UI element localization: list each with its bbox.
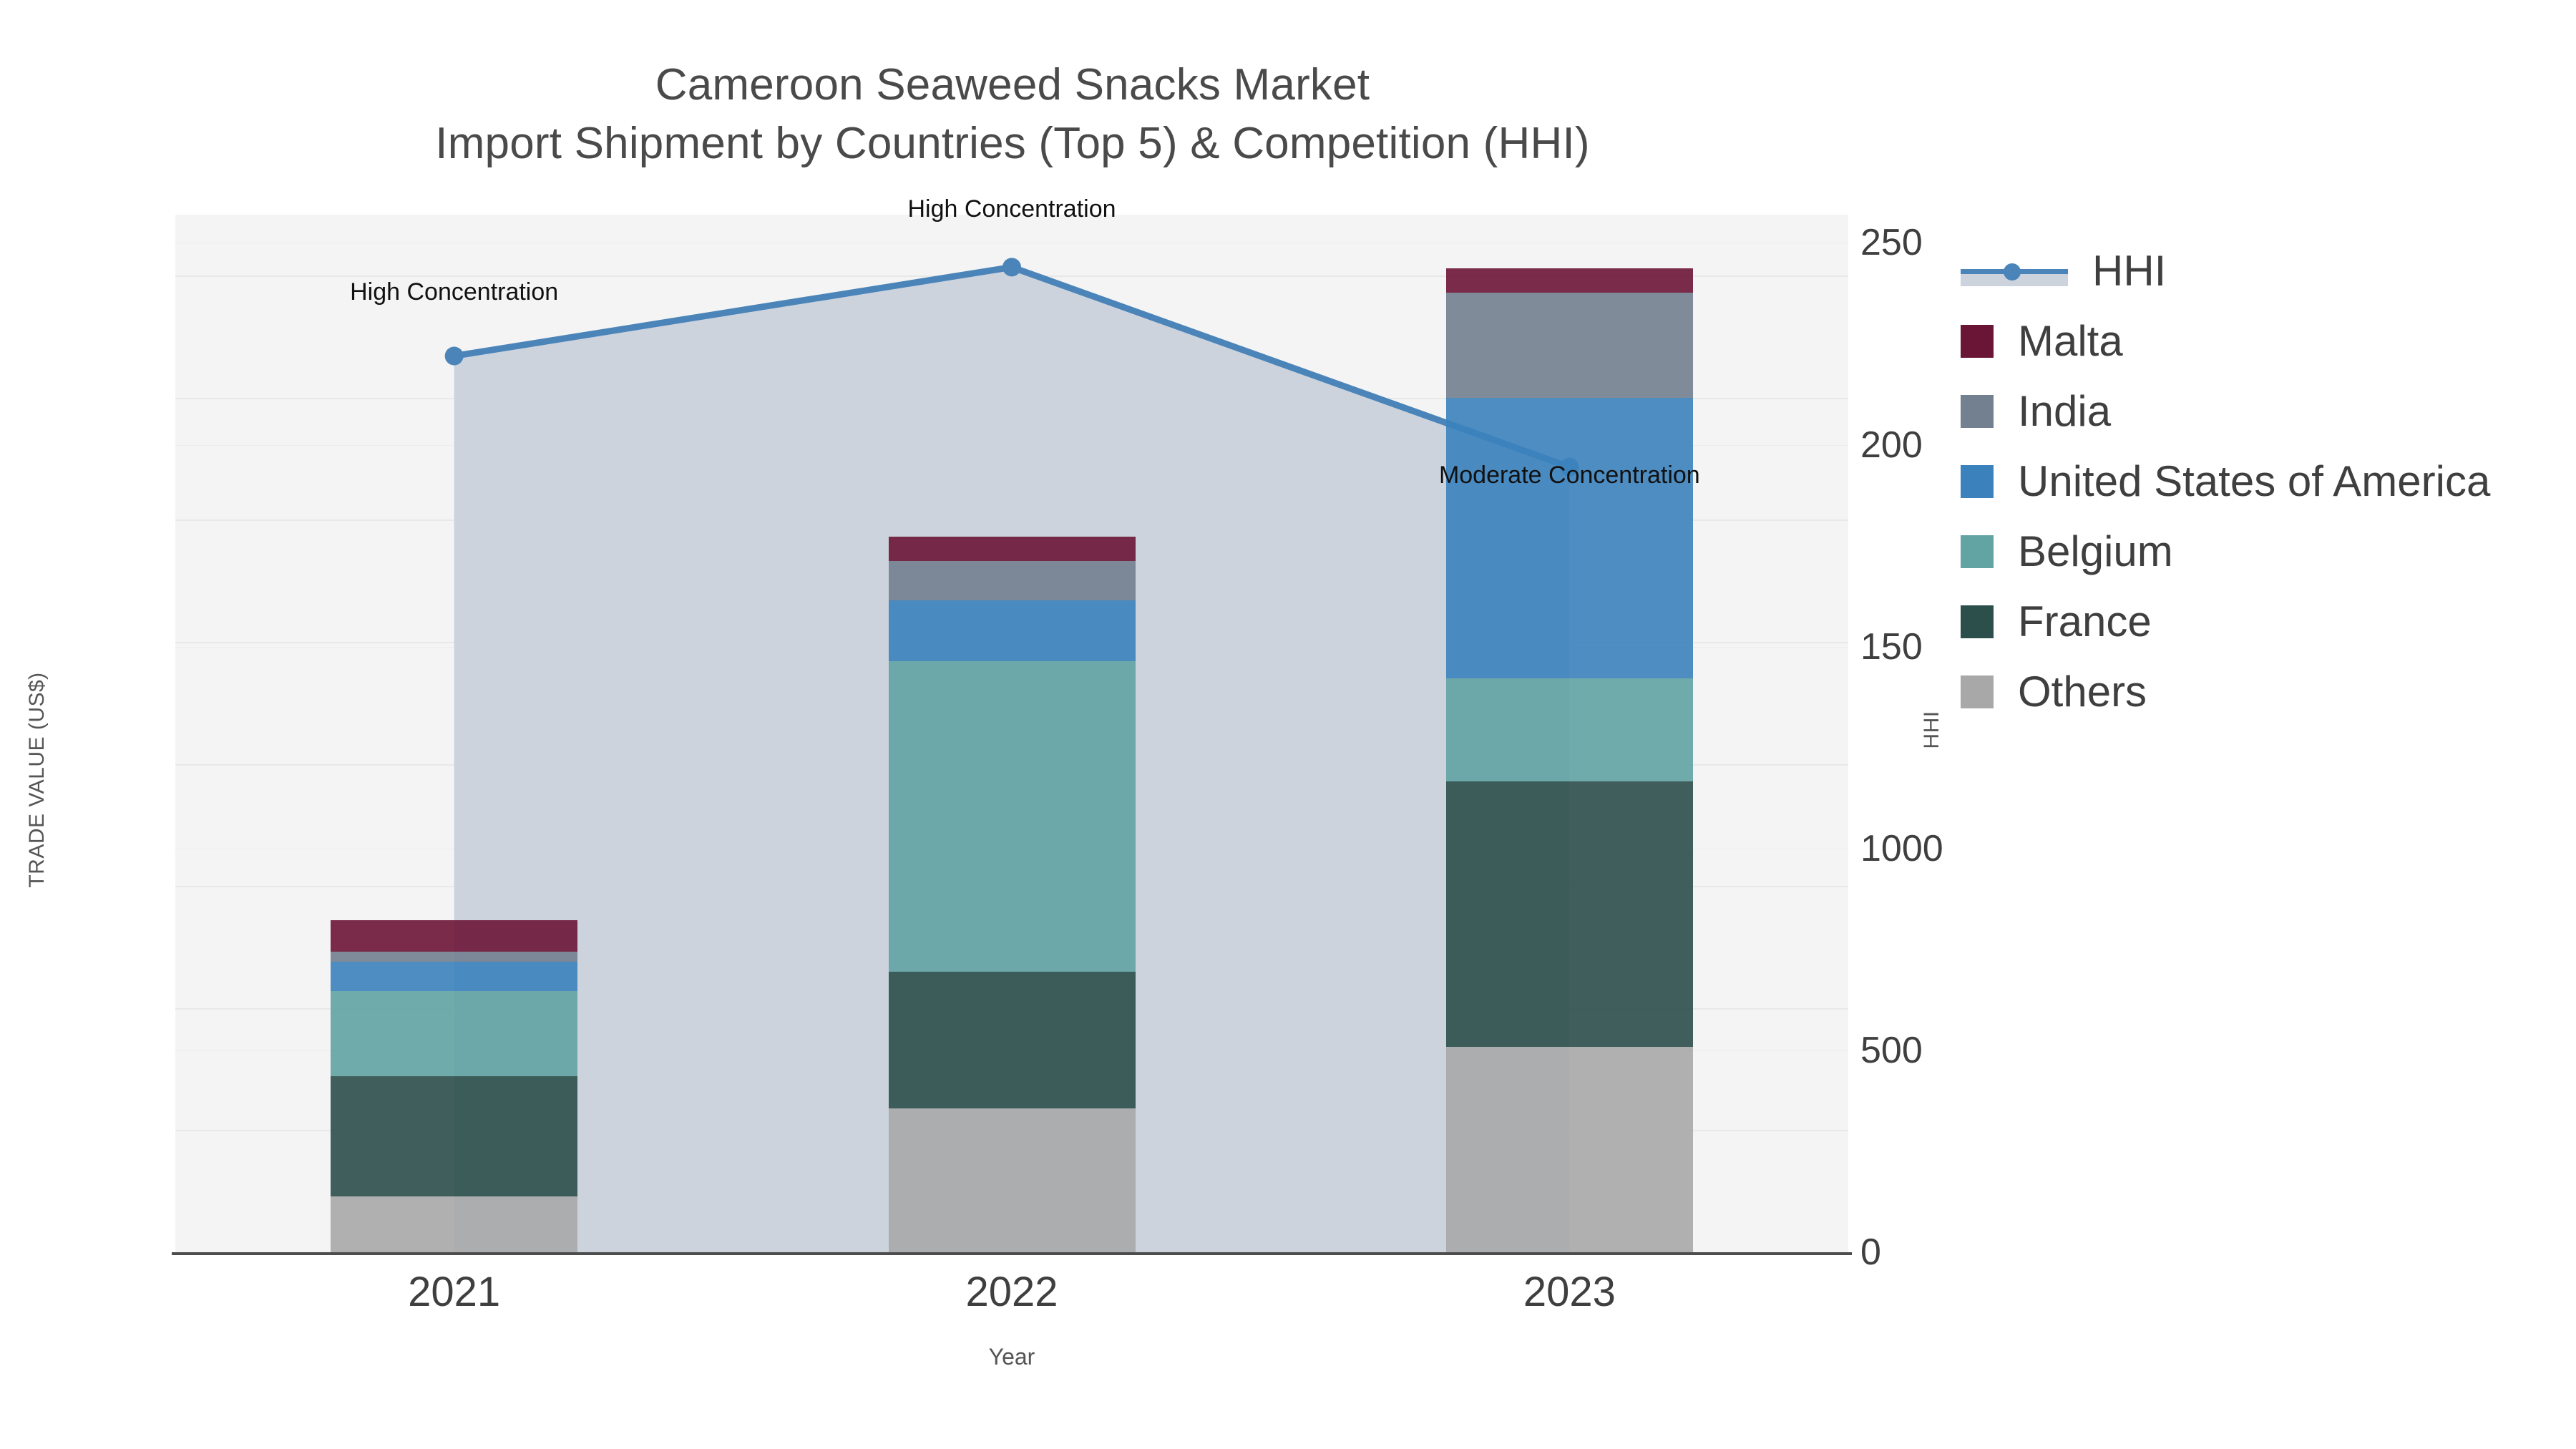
legend-item-label: India [2018, 390, 2111, 433]
legend-color-swatch [1961, 675, 1994, 708]
legend-item-malta[interactable]: Malta [1961, 306, 2490, 376]
legend-item-label: Others [2018, 670, 2147, 713]
chart-title-block: Cameroon Seaweed Snacks Market Import Sh… [0, 56, 2025, 173]
bar-segment[interactable] [331, 1076, 577, 1196]
y2-axis-tick-label: 250 [1860, 221, 1923, 264]
bar-segment[interactable] [331, 1196, 577, 1252]
bar-segment[interactable] [1446, 781, 1693, 1048]
x-axis-tick-label: 2021 [408, 1268, 500, 1316]
bar-segment[interactable] [889, 600, 1136, 661]
bar-segment[interactable] [889, 561, 1136, 600]
bar-segment[interactable] [331, 920, 577, 952]
legend-dot-icon [2004, 263, 2021, 280]
x-axis-tick-label: 2022 [965, 1268, 1058, 1316]
bar-segment[interactable] [1446, 1047, 1693, 1252]
chart-subtitle: Import Shipment by Countries (Top 5) & C… [0, 114, 2025, 173]
legend-item-india[interactable]: India [1961, 376, 2490, 447]
bar-segment[interactable] [889, 1108, 1136, 1252]
legend-item-label: France [2018, 600, 2152, 643]
bar-group [889, 215, 1136, 1252]
legend-color-swatch [1961, 605, 1994, 638]
legend-item-belgium[interactable]: Belgium [1961, 517, 2490, 587]
bar-segment[interactable] [889, 972, 1136, 1108]
bar-segment[interactable] [331, 952, 577, 962]
annotation-label: High Concentration [907, 195, 1116, 223]
legend-item-hhi[interactable]: HHI [1961, 236, 2490, 306]
bar-segment[interactable] [1446, 398, 1693, 678]
y-axis-right-label: HHI [1920, 711, 1944, 748]
legend-color-swatch [1961, 395, 1994, 428]
legend-line-marker-icon [1961, 255, 2068, 288]
y2-axis-tick-label: 200 [1860, 424, 1923, 467]
y-axis-left-label: TRADE VALUE (US$) [25, 672, 49, 887]
bar-segment[interactable] [1446, 678, 1693, 781]
chart-canvas: Cameroon Seaweed Snacks Market Import Sh… [0, 0, 2576, 1449]
legend-item-others[interactable]: Others [1961, 657, 2490, 727]
x-axis-label: Year [989, 1344, 1035, 1370]
y2-axis-tick-label: 500 [1860, 1029, 1923, 1072]
bar-segment[interactable] [331, 991, 577, 1076]
annotation-label: High Concentration [350, 278, 558, 306]
y2-axis-tick-label: 150 [1860, 625, 1923, 668]
legend-item-label: Belgium [2018, 530, 2173, 573]
annotation-label: Moderate Concentration [1439, 462, 1700, 489]
y2-axis-tick-label: 0 [1860, 1231, 1881, 1274]
x-axis-tick-label: 2023 [1523, 1268, 1616, 1316]
legend-item-france[interactable]: France [1961, 587, 2490, 657]
x-axis-line [172, 1252, 1852, 1255]
plot-area [175, 215, 1848, 1252]
chart-title: Cameroon Seaweed Snacks Market [0, 56, 2025, 114]
bar-segment[interactable] [331, 962, 577, 991]
legend-color-swatch [1961, 465, 1994, 498]
bar-group [1446, 215, 1693, 1252]
legend-item-united-states-of-america[interactable]: United States of America [1961, 447, 2490, 517]
legend-item-label: HHI [2092, 250, 2166, 293]
legend-item-label: United States of America [2018, 460, 2490, 503]
bar-segment[interactable] [1446, 268, 1693, 293]
bar-segment[interactable] [1446, 293, 1693, 398]
legend: HHIMaltaIndiaUnited States of AmericaBel… [1961, 236, 2490, 727]
bar-group [331, 215, 577, 1252]
legend-color-swatch [1961, 325, 1994, 358]
legend-item-label: Malta [2018, 320, 2123, 363]
bar-segment[interactable] [889, 661, 1136, 971]
legend-color-swatch [1961, 535, 1994, 568]
bar-segment[interactable] [889, 537, 1136, 561]
y2-axis-tick-label: 1000 [1860, 827, 1943, 870]
